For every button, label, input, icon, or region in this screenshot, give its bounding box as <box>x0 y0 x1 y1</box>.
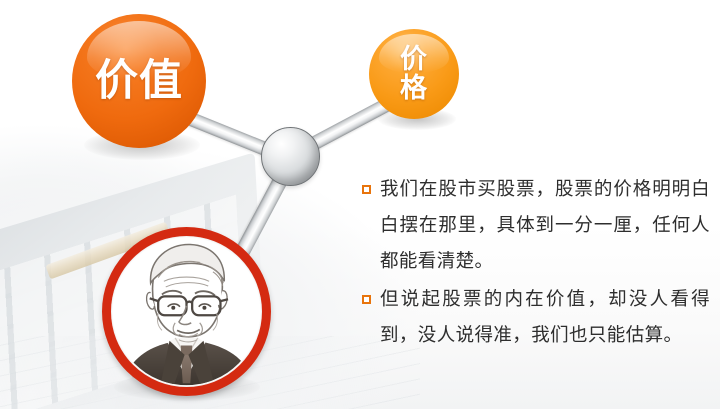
slide-canvas: 价值 价 格 <box>0 0 720 409</box>
portrait-medallion[interactable] <box>102 227 271 396</box>
square-bullet-icon <box>362 295 371 304</box>
price-sphere-label-char-1: 价 <box>400 45 428 74</box>
bullet-text-block: 我们在股市买股票，股票的价格明明白白摆在那里，具体到一分一厘，任何人都能看清楚。… <box>362 172 710 356</box>
bullet-item: 我们在股市买股票，股票的价格明明白白摆在那里，具体到一分一厘，任何人都能看清楚。 <box>362 172 710 280</box>
investor-portrait-illustration <box>111 236 262 387</box>
bullet-text: 我们在股市买股票，股票的价格明明白白摆在那里，具体到一分一厘，任何人都能看清楚。 <box>380 172 710 280</box>
value-sphere[interactable]: 价值 <box>72 14 206 148</box>
portrait-ring <box>102 227 271 396</box>
price-sphere[interactable]: 价 格 <box>369 29 459 119</box>
bullet-text: 但说起股票的内在价值，却没人看得到，没人说得准，我们也只能估算。 <box>380 282 710 354</box>
center-joint-sphere <box>261 127 320 186</box>
square-bullet-icon <box>362 185 371 194</box>
price-sphere-label-char-2: 格 <box>400 74 428 103</box>
bullet-item: 但说起股票的内在价值，却没人看得到，没人说得准，我们也只能估算。 <box>362 282 710 354</box>
value-sphere-label: 价值 <box>95 60 183 103</box>
price-sphere-label-stack: 价 格 <box>400 45 428 103</box>
